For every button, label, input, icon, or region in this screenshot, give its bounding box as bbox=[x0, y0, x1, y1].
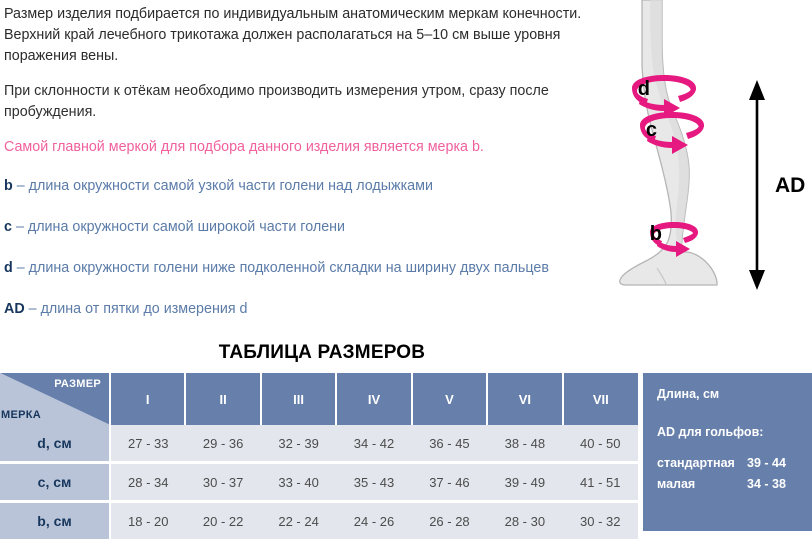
cell-c-2: 30 - 37 bbox=[185, 463, 260, 502]
measurement-key-b: b bbox=[4, 178, 13, 194]
cell-d-2: 29 - 36 bbox=[185, 425, 260, 463]
highlight-note: Самой главной меркой для подбора данного… bbox=[4, 137, 604, 158]
measurement-dash-c: – bbox=[16, 219, 24, 235]
column-header-4: IV bbox=[336, 373, 411, 425]
cell-b-2: 20 - 22 bbox=[185, 502, 260, 541]
corner-label-measure: МЕРКА bbox=[1, 409, 41, 421]
table-corner-cell: РАЗМЕР МЕРКА bbox=[0, 373, 110, 425]
corner-label-size: РАЗМЕР bbox=[54, 378, 101, 390]
measurement-definition-d: d – длина окружности голени ниже подколе… bbox=[4, 258, 604, 279]
row-label-b: b, см bbox=[0, 502, 110, 541]
cell-c-6: 39 - 49 bbox=[487, 463, 562, 502]
length-info-panel: Длина, см AD для гольфов: стандартная39 … bbox=[643, 373, 812, 531]
length-panel-title: Длина, см bbox=[657, 387, 719, 401]
length-panel-row-small: малая34 - 38 bbox=[657, 477, 802, 491]
cell-c-3: 33 - 40 bbox=[261, 463, 336, 502]
table-row: d, см 27 - 33 29 - 36 32 - 39 34 - 42 36… bbox=[0, 425, 638, 463]
intro-paragraph-2: При склонности к отёкам необходимо произ… bbox=[4, 81, 604, 123]
column-header-6: VI bbox=[487, 373, 562, 425]
diagram-label-ad: AD bbox=[775, 174, 805, 197]
cell-d-7: 40 - 50 bbox=[563, 425, 638, 463]
cell-c-1: 28 - 34 bbox=[110, 463, 185, 502]
intro-paragraph-1: Размер изделия подбирается по индивидуал… bbox=[4, 4, 604, 67]
cell-b-1: 18 - 20 bbox=[110, 502, 185, 541]
cell-b-5: 26 - 28 bbox=[412, 502, 487, 541]
measurement-definition-b: b – длина окружности самой узкой части г… bbox=[4, 176, 604, 197]
size-table: РАЗМЕР МЕРКА I II III IV V VI VII d, см … bbox=[0, 373, 638, 542]
cell-b-7: 30 - 32 bbox=[563, 502, 638, 541]
length-small-name: малая bbox=[657, 477, 747, 491]
measurement-dash-d: – bbox=[17, 260, 25, 276]
length-panel-row-standard: стандартная39 - 44 bbox=[657, 456, 802, 470]
diagram-label-c: c bbox=[646, 119, 657, 141]
info-text-column: Размер изделия подбирается по индивидуал… bbox=[4, 4, 604, 340]
cell-d-6: 38 - 48 bbox=[487, 425, 562, 463]
cell-d-1: 27 - 33 bbox=[110, 425, 185, 463]
measurement-dash-ad: – bbox=[29, 301, 37, 317]
measurement-definition-c: c – длина окружности самой широкой части… bbox=[4, 217, 604, 238]
measurement-key-d: d bbox=[4, 260, 13, 276]
length-small-value: 34 - 38 bbox=[747, 477, 786, 491]
column-header-5: V bbox=[412, 373, 487, 425]
length-standard-name: стандартная bbox=[657, 456, 747, 470]
leg-measurement-diagram: d c b AD bbox=[600, 0, 812, 320]
row-label-c: с, см bbox=[0, 463, 110, 502]
measurement-text-b: длина окружности самой узкой части голен… bbox=[29, 178, 433, 194]
measurement-definition-ad: AD – длина от пятки до измерения d bbox=[4, 299, 604, 320]
column-header-1: I bbox=[110, 373, 185, 425]
cell-b-4: 24 - 26 bbox=[336, 502, 411, 541]
table-row: b, см 18 - 20 20 - 22 22 - 24 24 - 26 26… bbox=[0, 502, 638, 541]
length-panel-subtitle: AD для гольфов: bbox=[657, 425, 763, 439]
cell-c-5: 37 - 46 bbox=[412, 463, 487, 502]
column-header-2: II bbox=[185, 373, 260, 425]
measurement-key-c: c bbox=[4, 219, 12, 235]
length-standard-value: 39 - 44 bbox=[747, 456, 786, 470]
column-header-7: VII bbox=[563, 373, 638, 425]
cell-b-6: 28 - 30 bbox=[487, 502, 562, 541]
table-row: с, см 28 - 34 30 - 37 33 - 40 35 - 43 37… bbox=[0, 463, 638, 502]
cell-d-5: 36 - 45 bbox=[412, 425, 487, 463]
column-header-3: III bbox=[261, 373, 336, 425]
measurement-dash-b: – bbox=[17, 178, 25, 194]
measurement-text-ad: длина от пятки до измерения d bbox=[41, 301, 248, 317]
cell-d-4: 34 - 42 bbox=[336, 425, 411, 463]
measurement-key-ad: AD bbox=[4, 301, 25, 317]
diagram-label-d: d bbox=[638, 78, 650, 100]
cell-b-3: 22 - 24 bbox=[261, 502, 336, 541]
cell-c-4: 35 - 43 bbox=[336, 463, 411, 502]
row-label-d: d, см bbox=[0, 425, 110, 463]
measurement-text-d: длина окружности голени ниже подколенной… bbox=[29, 260, 549, 276]
table-header-row: РАЗМЕР МЕРКА I II III IV V VI VII bbox=[0, 373, 638, 425]
measurement-text-c: длина окружности самой широкой части гол… bbox=[28, 219, 345, 235]
cell-d-3: 32 - 39 bbox=[261, 425, 336, 463]
ad-dimension-arrow-icon bbox=[749, 80, 765, 290]
page-title: ТАБЛИЦА РАЗМЕРОВ bbox=[0, 342, 644, 364]
diagram-label-b: b bbox=[650, 223, 662, 245]
cell-c-7: 41 - 51 bbox=[563, 463, 638, 502]
